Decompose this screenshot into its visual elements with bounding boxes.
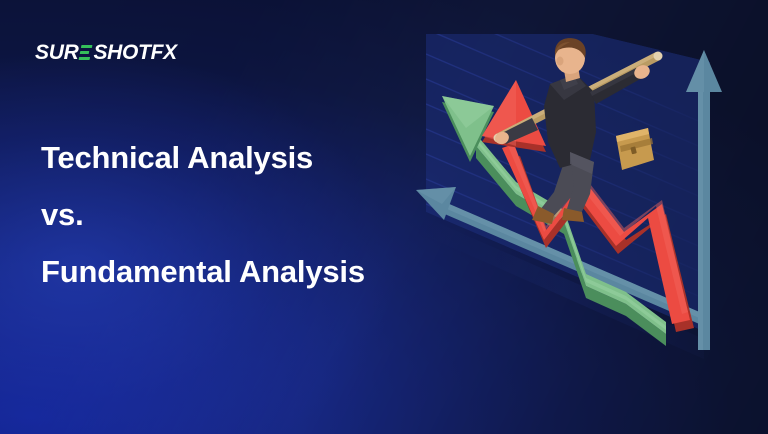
logo-text-part-3: SHOTFX <box>93 42 176 63</box>
page-title: Technical Analysis vs. Fundamental Analy… <box>41 142 441 287</box>
logo-text-part-1: SUR <box>35 42 78 63</box>
trading-chart-illustration <box>404 34 768 404</box>
headline-line-3: Fundamental Analysis <box>41 256 441 287</box>
banner-root: SUR SHOTFX Technical Analysis vs. Fundam… <box>0 0 768 434</box>
logo-sureshotfx[interactable]: SUR SHOTFX <box>35 40 177 64</box>
logo-green-bars-e-icon <box>79 45 93 60</box>
headline-line-1: Technical Analysis <box>41 142 441 173</box>
headline-line-2: vs. <box>41 199 441 230</box>
